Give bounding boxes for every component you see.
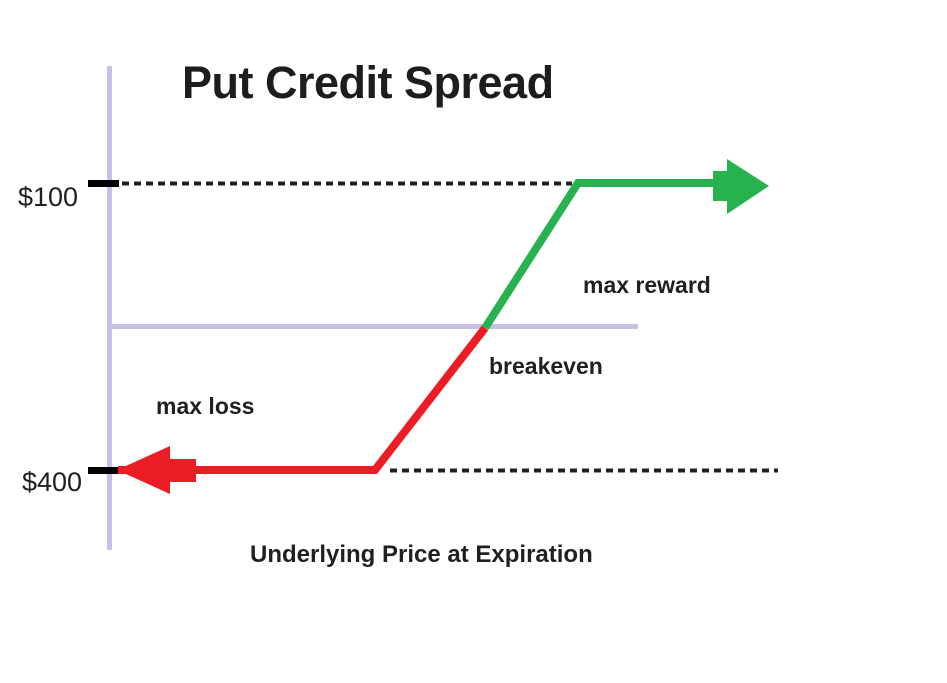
y-axis-tick-label-max-loss: $400 [22,467,82,498]
annotation-breakeven: breakeven [489,353,603,380]
annotation-max-reward: max reward [583,272,711,299]
chart-title: Put Credit Spread [182,57,554,109]
x-axis-label: Underlying Price at Expiration [250,541,593,569]
max-loss-arrow-icon [117,446,196,494]
max-reward-arrow-icon [713,159,769,214]
payoff-diagram-canvas: Put Credit Spread $100 $400 max reward b… [0,0,947,683]
y-axis-tick-label-max-reward: $100 [18,182,78,213]
payoff-profit-leg [485,183,730,328]
annotation-max-loss: max loss [156,393,254,420]
